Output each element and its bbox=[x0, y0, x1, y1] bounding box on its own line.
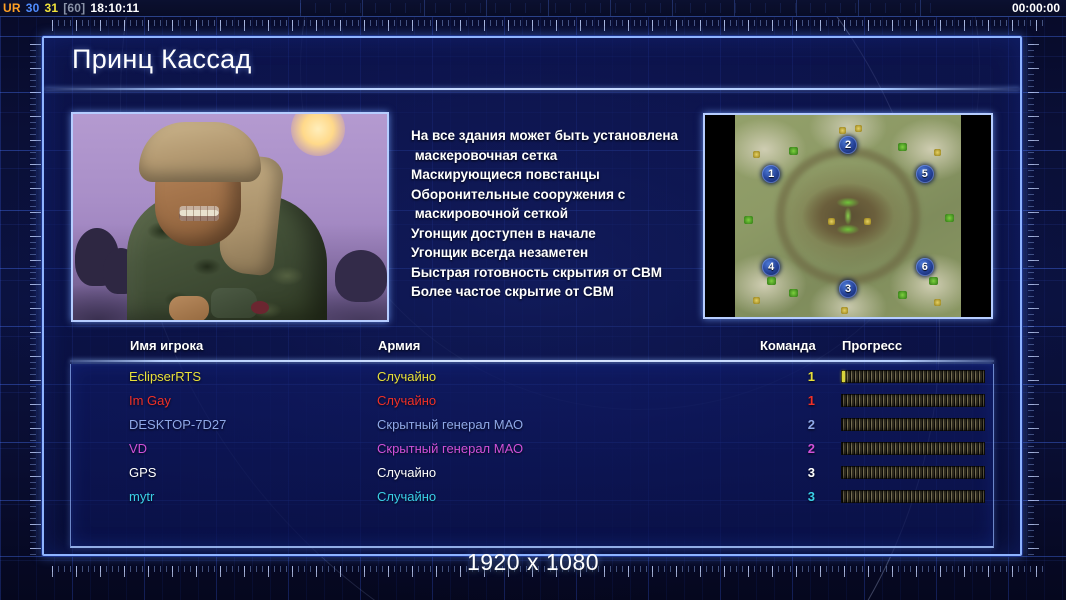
player-progress bbox=[841, 418, 985, 431]
topbar-clock: 18:10:11 bbox=[90, 1, 139, 15]
map-oil-derrick bbox=[855, 125, 862, 132]
player-progress bbox=[841, 394, 985, 407]
topbar-timer: 00:00:00 bbox=[1012, 1, 1066, 15]
map-spawn-1: 1 bbox=[762, 165, 780, 183]
lobby-panel: Принц Кассад bbox=[42, 36, 1022, 556]
faction-bonus-line: Быстрая готовность скрытия от СВМ bbox=[411, 263, 697, 283]
player-progress bbox=[841, 442, 985, 455]
map-oil-derrick bbox=[753, 151, 760, 158]
portrait-teeth bbox=[179, 206, 219, 221]
player-row[interactable]: DESKTOP-7D27Скрытный генерал МАО2 bbox=[71, 412, 993, 436]
player-progress bbox=[841, 370, 985, 383]
faction-bonus-line: Угонщик всегда незаметен bbox=[411, 243, 697, 263]
player-progress bbox=[841, 490, 985, 503]
player-row[interactable]: GPSСлучайно3 bbox=[71, 460, 993, 484]
game-lobby-screen: UR3031[60]18:10:11 00:00:00 Принц Кассад bbox=[0, 0, 1066, 600]
topbar-stats: UR3031[60]18:10:11 bbox=[0, 1, 144, 15]
player-row[interactable]: EclipserRTSСлучайно1 bbox=[71, 364, 993, 388]
progress-bar bbox=[841, 418, 985, 431]
player-row[interactable]: Im GayСлучайно1 bbox=[71, 388, 993, 412]
player-name: Im Gay bbox=[129, 393, 171, 408]
faction-bonus-line: маскеровочная сетка bbox=[411, 146, 697, 166]
map-oil-derrick bbox=[934, 149, 941, 156]
player-team: 1 bbox=[771, 369, 815, 384]
map-spawn-3: 3 bbox=[839, 280, 857, 298]
top-status-bar: UR3031[60]18:10:11 00:00:00 bbox=[0, 0, 1066, 17]
ruler-top bbox=[52, 20, 1044, 31]
player-army: Скрытный генерал МАО bbox=[377, 441, 523, 456]
map-spawn-5: 5 bbox=[916, 165, 934, 183]
faction-bonus-line: Угонщик доступен в начале bbox=[411, 224, 697, 244]
header-army: Армия bbox=[378, 338, 420, 353]
map-oil-derrick bbox=[828, 218, 835, 225]
topbar-value-b: 31 bbox=[44, 1, 58, 15]
player-team: 2 bbox=[771, 441, 815, 456]
map-supply-dock bbox=[744, 216, 753, 224]
map-terrain: 1 2 3 4 5 6 bbox=[735, 115, 961, 317]
page-title: Принц Кассад bbox=[72, 44, 252, 75]
map-spawn-6: 6 bbox=[916, 258, 934, 276]
player-progress bbox=[841, 466, 985, 479]
map-oil-derrick bbox=[839, 127, 846, 134]
player-row[interactable]: mytrСлучайно3 bbox=[71, 484, 993, 508]
map-supply-dock bbox=[898, 143, 907, 151]
header-player-name: Имя игрока bbox=[130, 338, 203, 353]
portrait-headwrap bbox=[139, 122, 261, 182]
progress-bar bbox=[841, 370, 985, 383]
map-center-supplies bbox=[828, 195, 868, 237]
map-oil-derrick bbox=[864, 218, 871, 225]
player-army: Случайно bbox=[377, 489, 436, 504]
player-name: EclipserRTS bbox=[129, 369, 201, 384]
player-row[interactable]: VDСкрытный генерал МАО2 bbox=[71, 436, 993, 460]
player-table-body: EclipserRTSСлучайно1Im GayСлучайно1DESKT… bbox=[70, 364, 994, 548]
map-oil-derrick bbox=[841, 307, 848, 314]
player-table-header: Имя игрока Армия Команда Прогресс bbox=[72, 338, 992, 360]
map-preview[interactable]: 1 2 3 4 5 6 bbox=[703, 113, 993, 319]
map-supply-dock bbox=[789, 147, 798, 155]
progress-bar-fill bbox=[842, 371, 845, 382]
portrait-hand bbox=[169, 296, 209, 322]
map-oil-derrick bbox=[934, 299, 941, 306]
header-progress: Прогресс bbox=[842, 338, 902, 353]
faction-portrait bbox=[71, 112, 389, 322]
player-army: Случайно bbox=[377, 465, 436, 480]
faction-info-row: На все здания может быть установлена мас… bbox=[71, 112, 993, 322]
ruler-right bbox=[1028, 44, 1039, 556]
resolution-label: 1920 x 1080 bbox=[0, 549, 1066, 576]
map-oil-derrick bbox=[753, 297, 760, 304]
topbar-value-a: 30 bbox=[26, 1, 40, 15]
topbar-label: UR bbox=[3, 1, 21, 15]
player-army: Случайно bbox=[377, 393, 436, 408]
map-supply-dock bbox=[767, 277, 776, 285]
player-army: Скрытный генерал МАО bbox=[377, 417, 523, 432]
title-divider bbox=[44, 88, 1020, 90]
player-name: VD bbox=[129, 441, 147, 456]
faction-bonus-line: Более частое скрытие от СВМ bbox=[411, 282, 697, 302]
portrait-tree bbox=[335, 250, 387, 302]
ruler-left bbox=[30, 44, 41, 556]
map-supply-dock bbox=[898, 291, 907, 299]
topbar-tick-marks bbox=[300, 0, 936, 16]
player-name: mytr bbox=[129, 489, 154, 504]
player-team: 3 bbox=[771, 465, 815, 480]
faction-bonus-line: Оборонительные сооружения с bbox=[411, 185, 697, 205]
faction-bonus-line: Маскирующиеся повстанцы bbox=[411, 165, 697, 185]
player-team: 3 bbox=[771, 489, 815, 504]
portrait-lantern bbox=[211, 288, 257, 318]
progress-bar bbox=[841, 490, 985, 503]
map-supply-dock bbox=[929, 277, 938, 285]
table-header-divider bbox=[70, 360, 994, 362]
topbar-value-c: [60] bbox=[63, 1, 85, 15]
progress-bar bbox=[841, 466, 985, 479]
faction-bonus-line: На все здания может быть установлена bbox=[411, 126, 697, 146]
map-supply-dock bbox=[789, 289, 798, 297]
map-supply-dock bbox=[945, 214, 954, 222]
player-name: GPS bbox=[129, 465, 156, 480]
map-spawn-4: 4 bbox=[762, 258, 780, 276]
player-team: 1 bbox=[771, 393, 815, 408]
progress-bar bbox=[841, 394, 985, 407]
header-team: Команда bbox=[760, 338, 816, 353]
player-name: DESKTOP-7D27 bbox=[129, 417, 226, 432]
faction-bonus-list: На все здания может быть установлена мас… bbox=[389, 112, 703, 302]
faction-bonus-line: маскировочной сеткой bbox=[411, 204, 697, 224]
player-team: 2 bbox=[771, 417, 815, 432]
player-army: Случайно bbox=[377, 369, 436, 384]
progress-bar bbox=[841, 442, 985, 455]
